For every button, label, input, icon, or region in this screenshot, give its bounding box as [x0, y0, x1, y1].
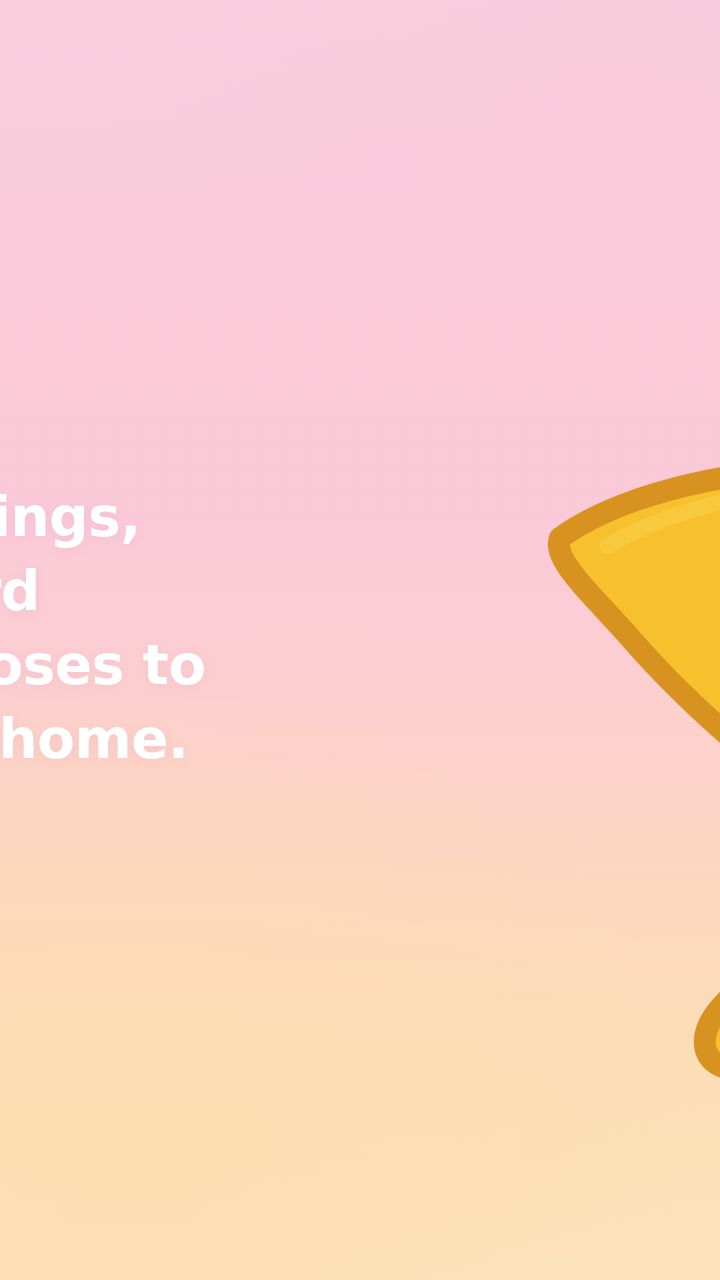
caption-line-1: golden rings,	[0, 480, 638, 554]
caption-body: golden rings, night bird rbie chooses to…	[0, 480, 638, 776]
caption-line-2: night bird	[0, 554, 638, 628]
caption-line-4: just like home.	[0, 702, 638, 776]
caption-text-block: nued) golden rings, night bird rbie choo…	[0, 372, 638, 776]
caption-heading: nued)	[0, 372, 638, 444]
caption-line-3: rbie chooses to	[0, 628, 638, 702]
slide-canvas: nued) golden rings, night bird rbie choo…	[0, 0, 720, 1280]
